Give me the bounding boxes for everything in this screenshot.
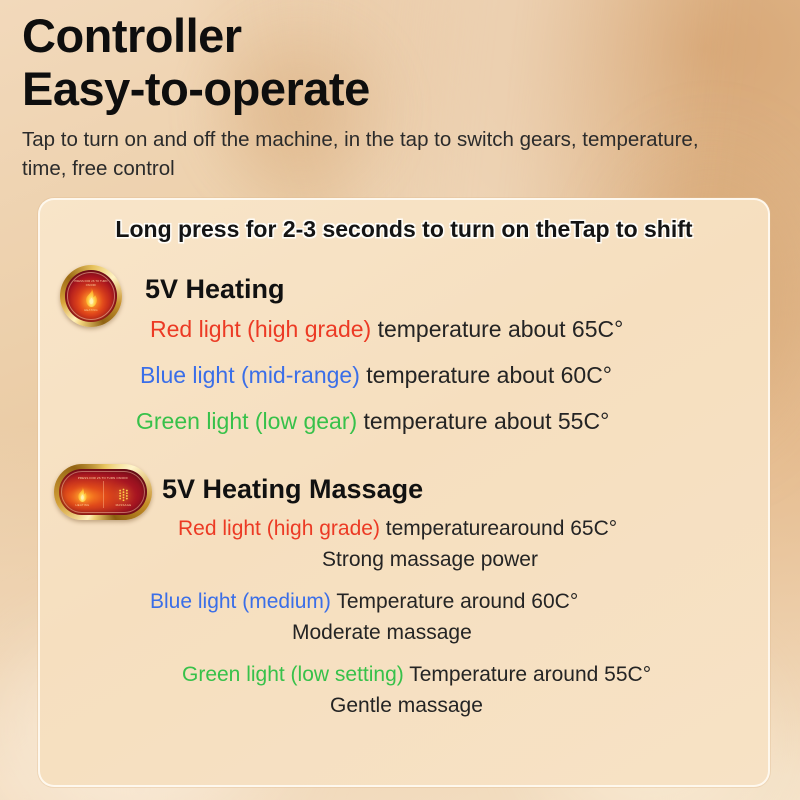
massage-mode-red: Red light (high grade) temperaturearound… xyxy=(40,518,768,571)
massage-blue-detail: Moderate massage xyxy=(40,622,768,644)
section-heating-header: PRESS FOR 2S TO TURN ON/OFF xyxy=(40,262,768,324)
page-subtitle: Tap to turn on and off the machine, in t… xyxy=(22,125,722,183)
card-title: Long press for 2-3 seconds to turn on th… xyxy=(40,216,768,243)
heating-mode-list: Red light (high grade) temperature about… xyxy=(40,318,768,456)
instruction-card: Long press for 2-3 seconds to turn on th… xyxy=(38,198,770,787)
heating-red-highlight: Red light (high grade) xyxy=(150,316,371,342)
heating-massage-power-button[interactable]: PRESS FOR 2S TO TURN ON/OFF xyxy=(54,464,152,520)
section-heating-massage-header: PRESS FOR 2S TO TURN ON/OFF xyxy=(40,462,768,524)
section-heating-massage-heading: 5V Heating Massage xyxy=(162,474,423,505)
massage-green-detail: Gentle massage xyxy=(40,695,768,717)
massage-green-highlight: Green light (low setting) xyxy=(182,663,404,686)
massage-green-rest: Temperature around 55C° xyxy=(404,663,651,686)
heating-massage-button-face: PRESS FOR 2S TO TURN ON/OFF xyxy=(61,471,145,513)
heating-green-highlight: Green light (low gear) xyxy=(136,408,357,434)
massage-red-rest: temperaturearound 65C° xyxy=(380,517,617,540)
heating-button-icon-label: HEATING xyxy=(84,308,98,312)
massage-blue-highlight: Blue light (medium) xyxy=(150,590,331,613)
massage-wave-icon xyxy=(117,487,130,502)
page-title-line-1: Controller xyxy=(22,12,762,59)
heating-red-rest: temperature about 65C° xyxy=(371,316,623,342)
massage-blue-rest: Temperature around 60C° xyxy=(331,590,578,613)
heating-massage-heat-half[interactable]: HEATING xyxy=(62,482,103,512)
massage-mode-blue: Blue light (medium) Temperature around 6… xyxy=(40,591,768,644)
massage-green-row: Green light (low setting) Temperature ar… xyxy=(40,664,768,686)
massage-red-highlight: Red light (high grade) xyxy=(178,517,380,540)
heating-massage-button-microtext: PRESS FOR 2S TO TURN ON/OFF xyxy=(62,476,144,480)
heating-massage-massage-half[interactable]: MASSAGE xyxy=(103,482,144,512)
heating-mode-red: Red light (high grade) temperature about… xyxy=(40,318,768,341)
heating-icon-label: HEATING xyxy=(75,503,89,507)
massage-icon-label: MASSAGE xyxy=(116,503,132,507)
massage-blue-row: Blue light (medium) Temperature around 6… xyxy=(40,591,768,613)
massage-red-row: Red light (high grade) temperaturearound… xyxy=(40,518,768,540)
page-title-line-2: Easy-to-operate xyxy=(22,65,762,112)
section-heating-heading: 5V Heating xyxy=(145,274,285,305)
page-header: Controller Easy-to-operate Tap to turn o… xyxy=(22,12,762,183)
flame-icon xyxy=(83,288,100,307)
massage-red-detail: Strong massage power xyxy=(40,549,768,571)
section-heating-massage: PRESS FOR 2S TO TURN ON/OFF xyxy=(40,462,768,524)
heating-blue-highlight: Blue light (mid-range) xyxy=(140,362,360,388)
heating-mode-blue: Blue light (mid-range) temperature about… xyxy=(40,364,768,387)
massage-mode-green: Green light (low setting) Temperature ar… xyxy=(40,664,768,717)
infographic-page: Controller Easy-to-operate Tap to turn o… xyxy=(0,0,800,800)
heating-mode-green: Green light (low gear) temperature about… xyxy=(40,410,768,433)
heating-button-microtext: PRESS FOR 2S TO TURN ON/OFF xyxy=(71,280,111,286)
heating-green-rest: temperature about 55C° xyxy=(357,408,609,434)
heating-button-face: PRESS FOR 2S TO TURN ON/OFF xyxy=(67,272,115,320)
flame-icon xyxy=(76,487,89,502)
heating-massage-mode-list: Red light (high grade) temperaturearound… xyxy=(40,518,768,737)
section-heating: PRESS FOR 2S TO TURN ON/OFF xyxy=(40,262,768,324)
heating-blue-rest: temperature about 60C° xyxy=(360,362,612,388)
